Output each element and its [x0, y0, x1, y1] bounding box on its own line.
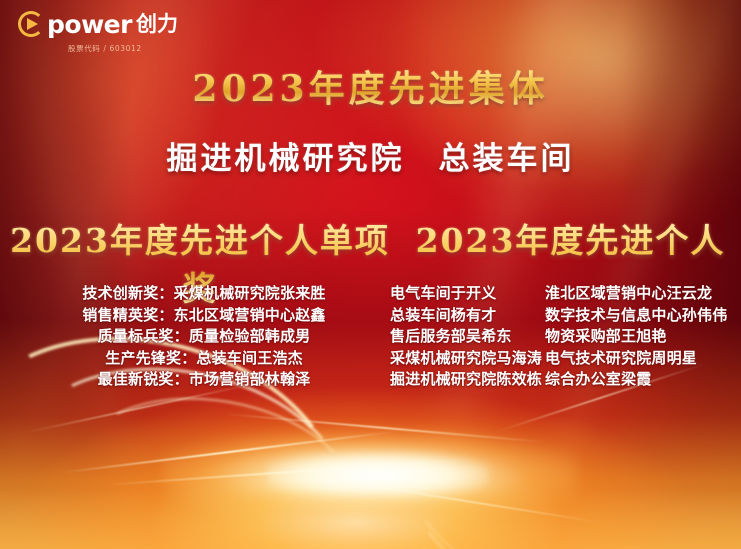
power-arrow-ring-icon: [18, 11, 44, 37]
winner-name: 售后服务部吴希东: [390, 326, 545, 348]
award-name: 最佳新锐奖：: [98, 370, 189, 388]
logo-row: power 创力: [18, 11, 178, 37]
collective-winners: 掘进机械研究院 总装车间: [0, 133, 741, 178]
winner-name: 电气技术研究院周明星: [545, 348, 741, 370]
award-recipient: 市场营销部林翰泽: [189, 370, 311, 388]
award-recipient: 质量检验部韩成男: [189, 327, 311, 345]
list-item: 销售精英奖：东北区域营销中心赵鑫: [18, 305, 390, 327]
award-name: 质量标兵奖：: [98, 327, 189, 345]
award-name: 技术创新奖：: [82, 284, 173, 302]
advanced-individual-list: 电气车间于开义 淮北区域营销中心汪云龙 总装车间杨有才 数字技术与信息中心孙伟伟…: [390, 283, 741, 391]
list-item: 生产先锋奖：总装车间王浩杰: [18, 348, 390, 370]
winner-name: 物资采购部王旭艳: [545, 326, 741, 348]
list-item: 总装车间杨有才 数字技术与信息中心孙伟伟: [390, 305, 741, 327]
list-item: 电气车间于开义 淮北区域营销中心汪云龙: [390, 283, 741, 305]
logo-chinese-name: 创力: [136, 14, 178, 35]
award-recipient: 总装车间王浩杰: [196, 349, 302, 367]
winner-name: 综合办公室梁霞: [545, 369, 741, 391]
stock-code-label: 股票代码 / 603012: [68, 43, 142, 54]
winner-name: 总装车间杨有才: [390, 305, 545, 327]
winner-name: 电气车间于开义: [390, 283, 545, 305]
poster-content: 2023年度先进集体 掘进机械研究院 总装车间 2023年度先进个人单项奖 20…: [0, 0, 741, 549]
list-item: 采煤机械研究院马海涛 电气技术研究院周明星: [390, 348, 741, 370]
list-item: 掘进机械研究院陈效栋 综合办公室梁霞: [390, 369, 741, 391]
list-item: 质量标兵奖：质量检验部韩成男: [18, 326, 390, 348]
logo-wordmark: power: [47, 12, 132, 37]
list-item: 最佳新锐奖：市场营销部林翰泽: [18, 369, 390, 391]
winner-name: 淮北区域营销中心汪云龙: [545, 283, 741, 305]
award-name: 生产先锋奖：: [105, 349, 196, 367]
winner-name: 采煤机械研究院马海涛: [390, 348, 545, 370]
list-item: 技术创新奖：采煤机械研究院张来胜: [18, 283, 390, 305]
winner-lists: 技术创新奖：采煤机械研究院张来胜 销售精英奖：东北区域营销中心赵鑫 质量标兵奖：…: [0, 283, 741, 391]
page-title: 2023年度先进集体: [0, 60, 741, 112]
winner-name: 掘进机械研究院陈效栋: [390, 369, 545, 391]
individual-award-list: 技术创新奖：采煤机械研究院张来胜 销售精英奖：东北区域营销中心赵鑫 质量标兵奖：…: [0, 283, 390, 391]
company-logo: power 创力 股票代码 / 603012: [18, 11, 178, 54]
list-item: 售后服务部吴希东 物资采购部王旭艳: [390, 326, 741, 348]
award-recipient: 东北区域营销中心赵鑫: [174, 306, 326, 324]
award-recipient: 采煤机械研究院张来胜: [174, 284, 326, 302]
award-name: 销售精英奖：: [82, 306, 173, 324]
winner-name: 数字技术与信息中心孙伟伟: [545, 305, 741, 327]
award-poster: power 创力 股票代码 / 603012 2023年度先进集体 掘进机械研究…: [0, 0, 741, 549]
